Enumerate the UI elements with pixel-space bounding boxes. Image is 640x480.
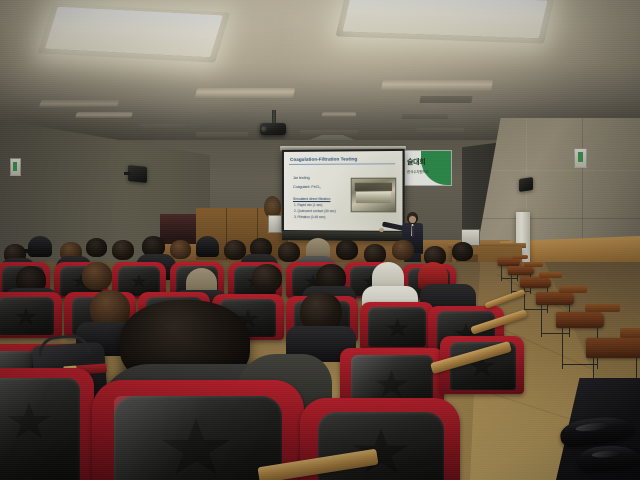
- audience-person-5: [112, 240, 134, 260]
- ceiling-vent-6: [300, 130, 359, 135]
- wall-notice-card: [268, 215, 282, 233]
- audience-person-13: [336, 240, 358, 260]
- presenter-face: [409, 216, 416, 223]
- presentation-slide: Coagulation-Filtration Testing Jar testi…: [284, 151, 403, 231]
- wall-sign-box-right: [574, 148, 587, 168]
- slide-photo-jar-test: [351, 178, 397, 213]
- slide-title: Coagulation-Filtration Testing: [290, 156, 357, 162]
- seat-r3-6[interactable]: [360, 302, 434, 350]
- ceiling-light-left: [45, 7, 223, 58]
- ceiling-light-dim-5: [322, 112, 357, 117]
- presenter-tie: [412, 226, 414, 237]
- head: [86, 238, 107, 257]
- head: [278, 242, 300, 262]
- ceiling-vent-2: [402, 114, 449, 119]
- ceiling-light-dim-3: [39, 100, 120, 108]
- head: [336, 240, 358, 260]
- audience-person-14: [364, 244, 386, 264]
- audience-person-17: [452, 242, 473, 261]
- audience-person-21: [252, 264, 282, 292]
- banner-title: 술대회: [407, 157, 425, 167]
- wall-speaker-left: [128, 165, 147, 183]
- head: [170, 240, 191, 259]
- speaker-bracket-left: [124, 172, 130, 175]
- audience-person-11: [278, 242, 300, 262]
- head: [364, 244, 386, 264]
- slide-step-2: 2. Quiescent contact (30 sec): [294, 209, 336, 213]
- slide-bullet-1: Jar testing: [293, 176, 310, 180]
- wall-speaker-right: [519, 177, 533, 192]
- head: [112, 240, 134, 260]
- slide-step-1: 1. Rapid mix (1 sec): [294, 203, 323, 207]
- audience-person-2: [28, 236, 52, 257]
- slide-bullet-2: Coagulant: FeCl₃: [293, 185, 321, 189]
- ceiling-vent-1: [419, 96, 472, 103]
- wall-exit-box-left: [10, 158, 21, 176]
- audience-person-8: [196, 236, 219, 257]
- audience-person-15: [392, 240, 414, 260]
- projector-lens-icon: [261, 126, 267, 132]
- ceiling-vent-4: [139, 124, 186, 129]
- slide-step-3: 3. Filtration (0.45 mm): [294, 215, 325, 219]
- slide-photo-rig: [355, 183, 392, 191]
- audience-person-7: [170, 240, 191, 259]
- cap-brim: [24, 249, 44, 254]
- banner-subtitle: 한국수자원학회: [407, 170, 429, 175]
- banner-green-shape: [421, 151, 451, 185]
- head: [82, 262, 112, 290]
- ceiling-vent-3: [416, 128, 465, 133]
- seat-r3-1[interactable]: [0, 292, 62, 338]
- head: [252, 264, 282, 292]
- seat-r1-left[interactable]: [0, 368, 94, 480]
- head: [452, 242, 473, 261]
- conference-banner: 술대회 한국수자원학회: [404, 150, 452, 186]
- ceiling-light-dim-4: [75, 112, 133, 118]
- slide-photo-jars: [356, 192, 391, 203]
- head: [392, 240, 414, 260]
- slide-title-rule: [289, 163, 395, 164]
- presenter-hand: [379, 228, 384, 232]
- ceiling-light-dim-2: [381, 80, 493, 91]
- cap-black-icon: [196, 236, 219, 257]
- slide-section-heading: Simulated direct filtration: [293, 197, 330, 201]
- audience-person-19: [82, 262, 112, 290]
- ceiling-light-dim-1: [195, 88, 295, 98]
- ceiling-vent-5: [195, 132, 248, 137]
- projector-mount-pole: [272, 110, 276, 124]
- audience-person-4: [86, 238, 107, 257]
- lecture-hall-photo: 술대회 한국수자원학회 Coagulation-Filtration Testi…: [0, 0, 640, 480]
